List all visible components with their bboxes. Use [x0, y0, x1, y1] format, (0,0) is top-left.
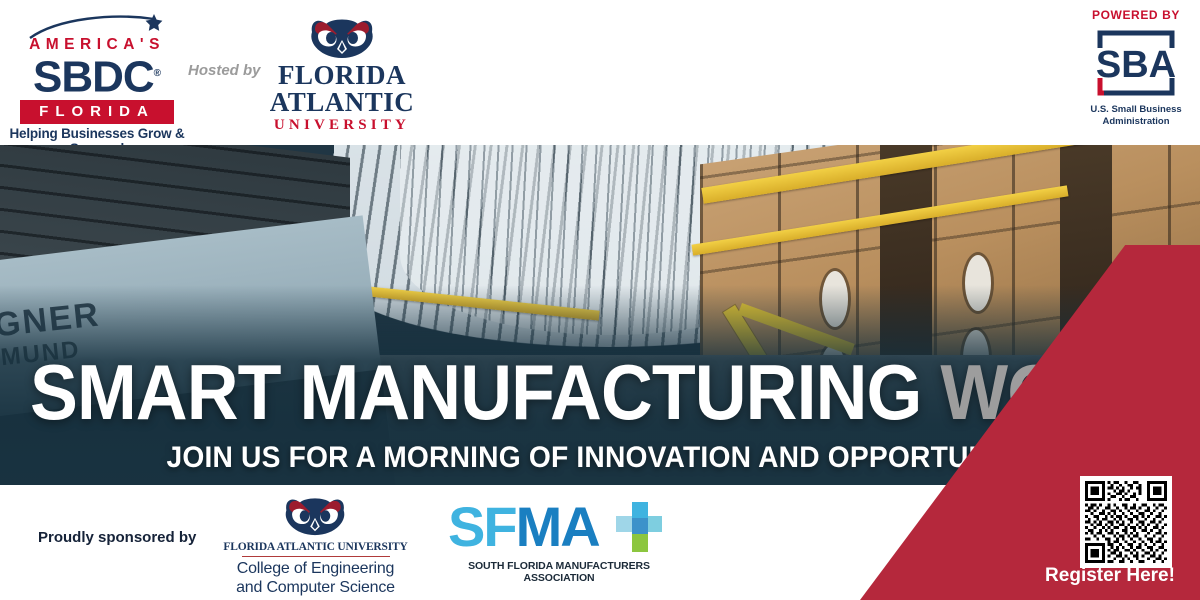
- fau-line-university: UNIVERSITY: [262, 117, 422, 134]
- fau-college-department: College of Engineering and Computer Scie…: [218, 559, 413, 597]
- sba-caption-line1: U.S. Small Business: [1090, 104, 1181, 115]
- sbdc-acronym-text: SBDC: [33, 53, 154, 102]
- banner-header: AMERICA'S SBDC® FLORIDA Helping Business…: [0, 0, 1200, 145]
- fau-college-dept-line1: College of Engineering: [237, 560, 395, 577]
- sbdc-florida-text: FLORIDA: [20, 100, 174, 124]
- qr-code[interactable]: [1085, 481, 1167, 563]
- sba-caption: U.S. Small Business Administration: [1080, 104, 1192, 128]
- sba-powered-by-logo: POWERED BY SBA U.S. Small Business Admin…: [1080, 8, 1192, 138]
- headline-primary-text: SMART MANUFACTURING: [30, 348, 921, 436]
- fau-college-of-engineering-logo: FLORIDA ATLANTIC UNIVERSITY College of E…: [218, 495, 413, 595]
- fau-college-divider: [242, 556, 390, 557]
- sfma-caption: SOUTH FLORIDA MANUFACTURERS ASSOCIATION: [448, 560, 670, 584]
- fau-college-dept-line2: and Computer Science: [236, 579, 395, 596]
- fau-college-owl-icon: [280, 495, 350, 537]
- sfma-ma-text: MA: [516, 495, 599, 558]
- fau-college-university-text: FLORIDA ATLANTIC UNIVERSITY: [218, 541, 413, 553]
- sfma-logo: SFMA SOUTH FLORIDA MANUFACTURERS ASSOCIA…: [448, 498, 670, 588]
- fau-owl-icon: [306, 16, 378, 60]
- americas-sbdc-florida-logo: AMERICA'S SBDC® FLORIDA Helping Business…: [8, 14, 186, 136]
- sfma-sf-text: SF: [448, 495, 516, 558]
- florida-atlantic-university-logo: FLORIDA ATLANTIC UNIVERSITY: [262, 16, 422, 132]
- register-here-label[interactable]: Register Here!: [1030, 565, 1190, 587]
- sponsor-label: Proudly sponsored by: [38, 529, 196, 546]
- sbdc-acronym: SBDC®: [8, 51, 186, 101]
- sba-mark-icon: SBA: [1090, 26, 1182, 100]
- main-headline: SMART MANUFACTURING WORKSHOP: [30, 353, 1088, 431]
- sfma-wordmark: SFMA: [448, 498, 628, 556]
- fau-line-florida: FLORIDA: [262, 61, 422, 89]
- registered-mark-icon: ®: [154, 68, 161, 79]
- sba-powered-by-text: POWERED BY: [1080, 8, 1192, 22]
- fau-line-atlantic: ATLANTIC: [262, 88, 422, 116]
- svg-text:SBA: SBA: [1096, 44, 1176, 86]
- sfma-plus-icon: [616, 502, 662, 554]
- event-banner: AMERICA'S SBDC® FLORIDA Helping Business…: [0, 0, 1200, 600]
- hosted-by-label: Hosted by: [188, 62, 268, 79]
- sba-caption-line2: Administration: [1102, 116, 1169, 127]
- sbdc-florida-bar: FLORIDA: [20, 100, 174, 124]
- qr-code-container[interactable]: [1080, 476, 1172, 568]
